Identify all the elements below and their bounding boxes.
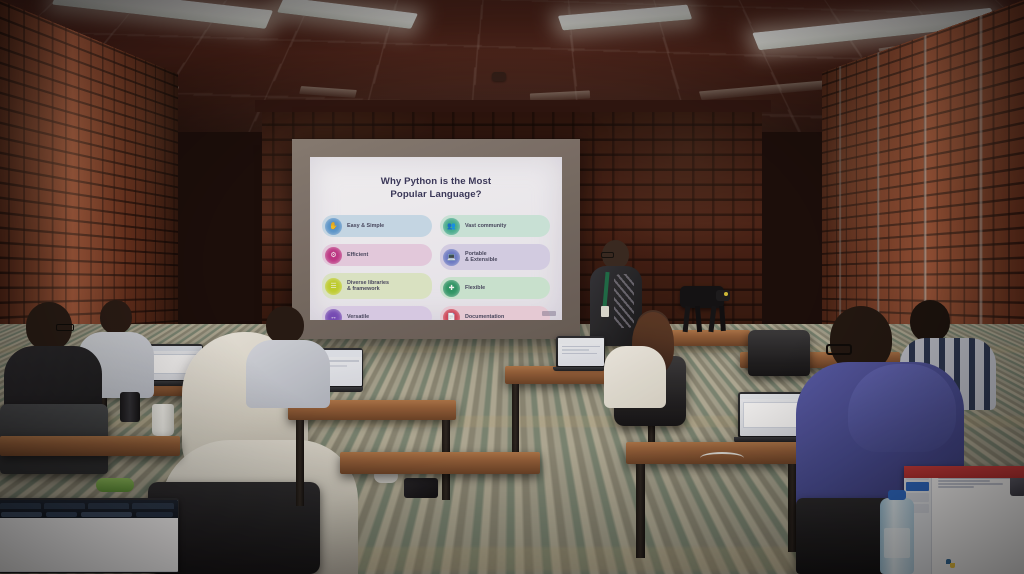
student-body bbox=[604, 346, 666, 408]
glasses-icon bbox=[56, 324, 74, 331]
student-head bbox=[100, 300, 132, 334]
laptop-bottom-right: Father of Python bbox=[904, 466, 1024, 574]
hoodie-hood bbox=[848, 364, 956, 452]
slide-feature-portable-extensible: 💻 Portable & Extensible bbox=[440, 244, 550, 270]
books-icon: ☰ bbox=[325, 278, 342, 295]
laptop-icon: 💻 bbox=[443, 249, 460, 266]
slide-thumbnail-selected[interactable] bbox=[906, 482, 929, 491]
student-body bbox=[246, 340, 330, 408]
slide-canvas[interactable]: Father of Python bbox=[932, 468, 1023, 560]
slide-feature-versatile: ↔ Versatile bbox=[322, 306, 432, 320]
slide-title: Why Python is the Most Popular Language? bbox=[310, 157, 562, 201]
python-logo-icon bbox=[946, 559, 955, 560]
student-center-white-sweater bbox=[596, 310, 672, 406]
dark-tumbler bbox=[120, 392, 140, 422]
projector-screen: Why Python is the Most Popular Language?… bbox=[292, 139, 580, 339]
snack-item bbox=[96, 478, 134, 492]
hand-icon: ✋ bbox=[325, 218, 342, 235]
browser-toolbar[interactable] bbox=[0, 500, 178, 519]
student-head bbox=[266, 306, 304, 344]
desk-leg bbox=[636, 464, 645, 558]
robot-dog bbox=[676, 286, 732, 334]
browser-tab[interactable] bbox=[44, 503, 85, 509]
desk-front-left bbox=[0, 436, 180, 456]
slide-feature-easy-simple: ✋ Easy & Simple bbox=[322, 215, 432, 237]
slide-feature-efficient: ⚙ Efficient bbox=[322, 244, 432, 266]
presentation-app-screen[interactable]: Father of Python bbox=[906, 468, 1024, 560]
slide-logo bbox=[542, 311, 556, 316]
slide-feature-flexible: ✚ Flexible bbox=[440, 277, 550, 299]
glasses-icon bbox=[826, 344, 852, 355]
browser-screen[interactable] bbox=[0, 500, 178, 572]
browser-tab[interactable] bbox=[0, 503, 41, 509]
browser-content[interactable] bbox=[0, 518, 178, 571]
browser-tab[interactable] bbox=[132, 503, 173, 509]
slide-feature-vast-community: 👥 Vast community bbox=[440, 215, 550, 237]
presenter-glasses-icon bbox=[601, 252, 614, 258]
slide-feature-documentation: 📄 Documentation bbox=[440, 306, 550, 320]
cable bbox=[700, 452, 744, 464]
desk-leg bbox=[512, 384, 519, 458]
water-bottle bbox=[880, 498, 914, 574]
student-mid-left bbox=[246, 306, 332, 406]
document-icon: 📄 bbox=[443, 309, 460, 321]
puzzle-icon: ✚ bbox=[443, 280, 460, 297]
classroom-scene: Why Python is the Most Popular Language?… bbox=[0, 0, 1024, 574]
desk-front-center bbox=[340, 452, 540, 474]
slide-right-column: 👥 Vast community 💻 Portable & Extensible… bbox=[440, 215, 550, 320]
back-wall-trim bbox=[255, 100, 771, 112]
desk-leg bbox=[296, 420, 304, 506]
projected-slide: Why Python is the Most Popular Language?… bbox=[310, 157, 562, 320]
slide-feature-diverse-libraries: ☰ Diverse libraries & framework bbox=[322, 273, 432, 299]
browser-tab[interactable] bbox=[88, 503, 129, 509]
gear-icon: ⚙ bbox=[325, 247, 342, 264]
laptop-bottom-left bbox=[0, 498, 180, 574]
slide-left-column: ✋ Easy & Simple ⚙ Efficient ☰ Diverse li… bbox=[322, 215, 432, 320]
smartphone bbox=[404, 478, 438, 498]
people-icon: 👥 bbox=[443, 218, 460, 235]
